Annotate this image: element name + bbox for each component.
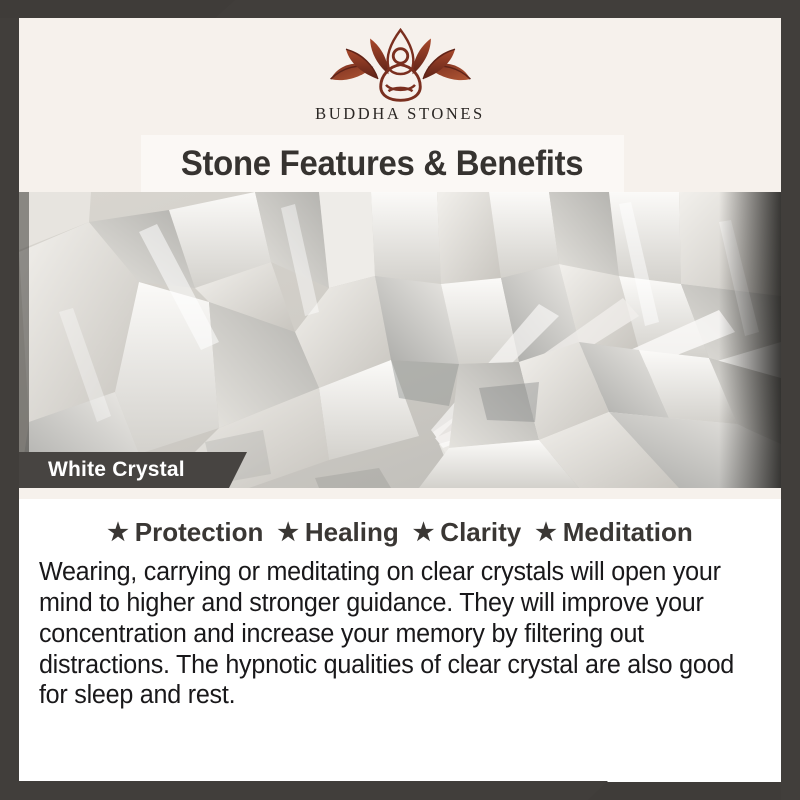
benefit-item-clarity: ★ Clarity — [413, 517, 521, 548]
cream-divider-strip — [19, 488, 781, 499]
star-icon: ★ — [535, 521, 557, 545]
benefit-label: Protection — [135, 517, 264, 548]
brand-logo: BUDDHA STONES — [285, 26, 515, 136]
stone-name-label: White Crystal — [48, 458, 185, 482]
benefits-list: ★ Protection ★ Healing ★ Clarity ★ Medit… — [36, 517, 764, 548]
brand-name: BUDDHA STONES — [315, 104, 485, 124]
benefit-label: Meditation — [563, 517, 693, 548]
star-icon: ★ — [413, 521, 435, 545]
frame-decoration-right — [781, 0, 800, 800]
infographic-poster: BUDDHA STONES Stone Features & Benefits — [0, 0, 800, 800]
title-plate: Stone Features & Benefits — [141, 135, 624, 192]
frame-decoration-top-right — [215, 0, 800, 18]
white-crystal-cluster-photo — [19, 192, 781, 488]
page-title: Stone Features & Benefits — [181, 144, 583, 184]
frame-decoration-left — [0, 18, 19, 800]
benefit-label: Healing — [305, 517, 399, 548]
frame-decoration-bottom-left — [0, 781, 608, 800]
content-section: ★ Protection ★ Healing ★ Clarity ★ Medit… — [19, 498, 781, 782]
benefit-label: Clarity — [440, 517, 521, 548]
benefit-item-protection: ★ Protection — [107, 517, 263, 548]
description-paragraph: Wearing, carrying or meditating on clear… — [36, 557, 753, 711]
benefit-item-healing: ★ Healing — [277, 517, 398, 548]
lotus-meditation-icon — [313, 26, 488, 108]
star-icon: ★ — [107, 521, 129, 545]
benefit-item-meditation: ★ Meditation — [535, 517, 693, 548]
stone-name-banner: White Crystal — [19, 452, 247, 488]
star-icon: ★ — [277, 521, 299, 545]
